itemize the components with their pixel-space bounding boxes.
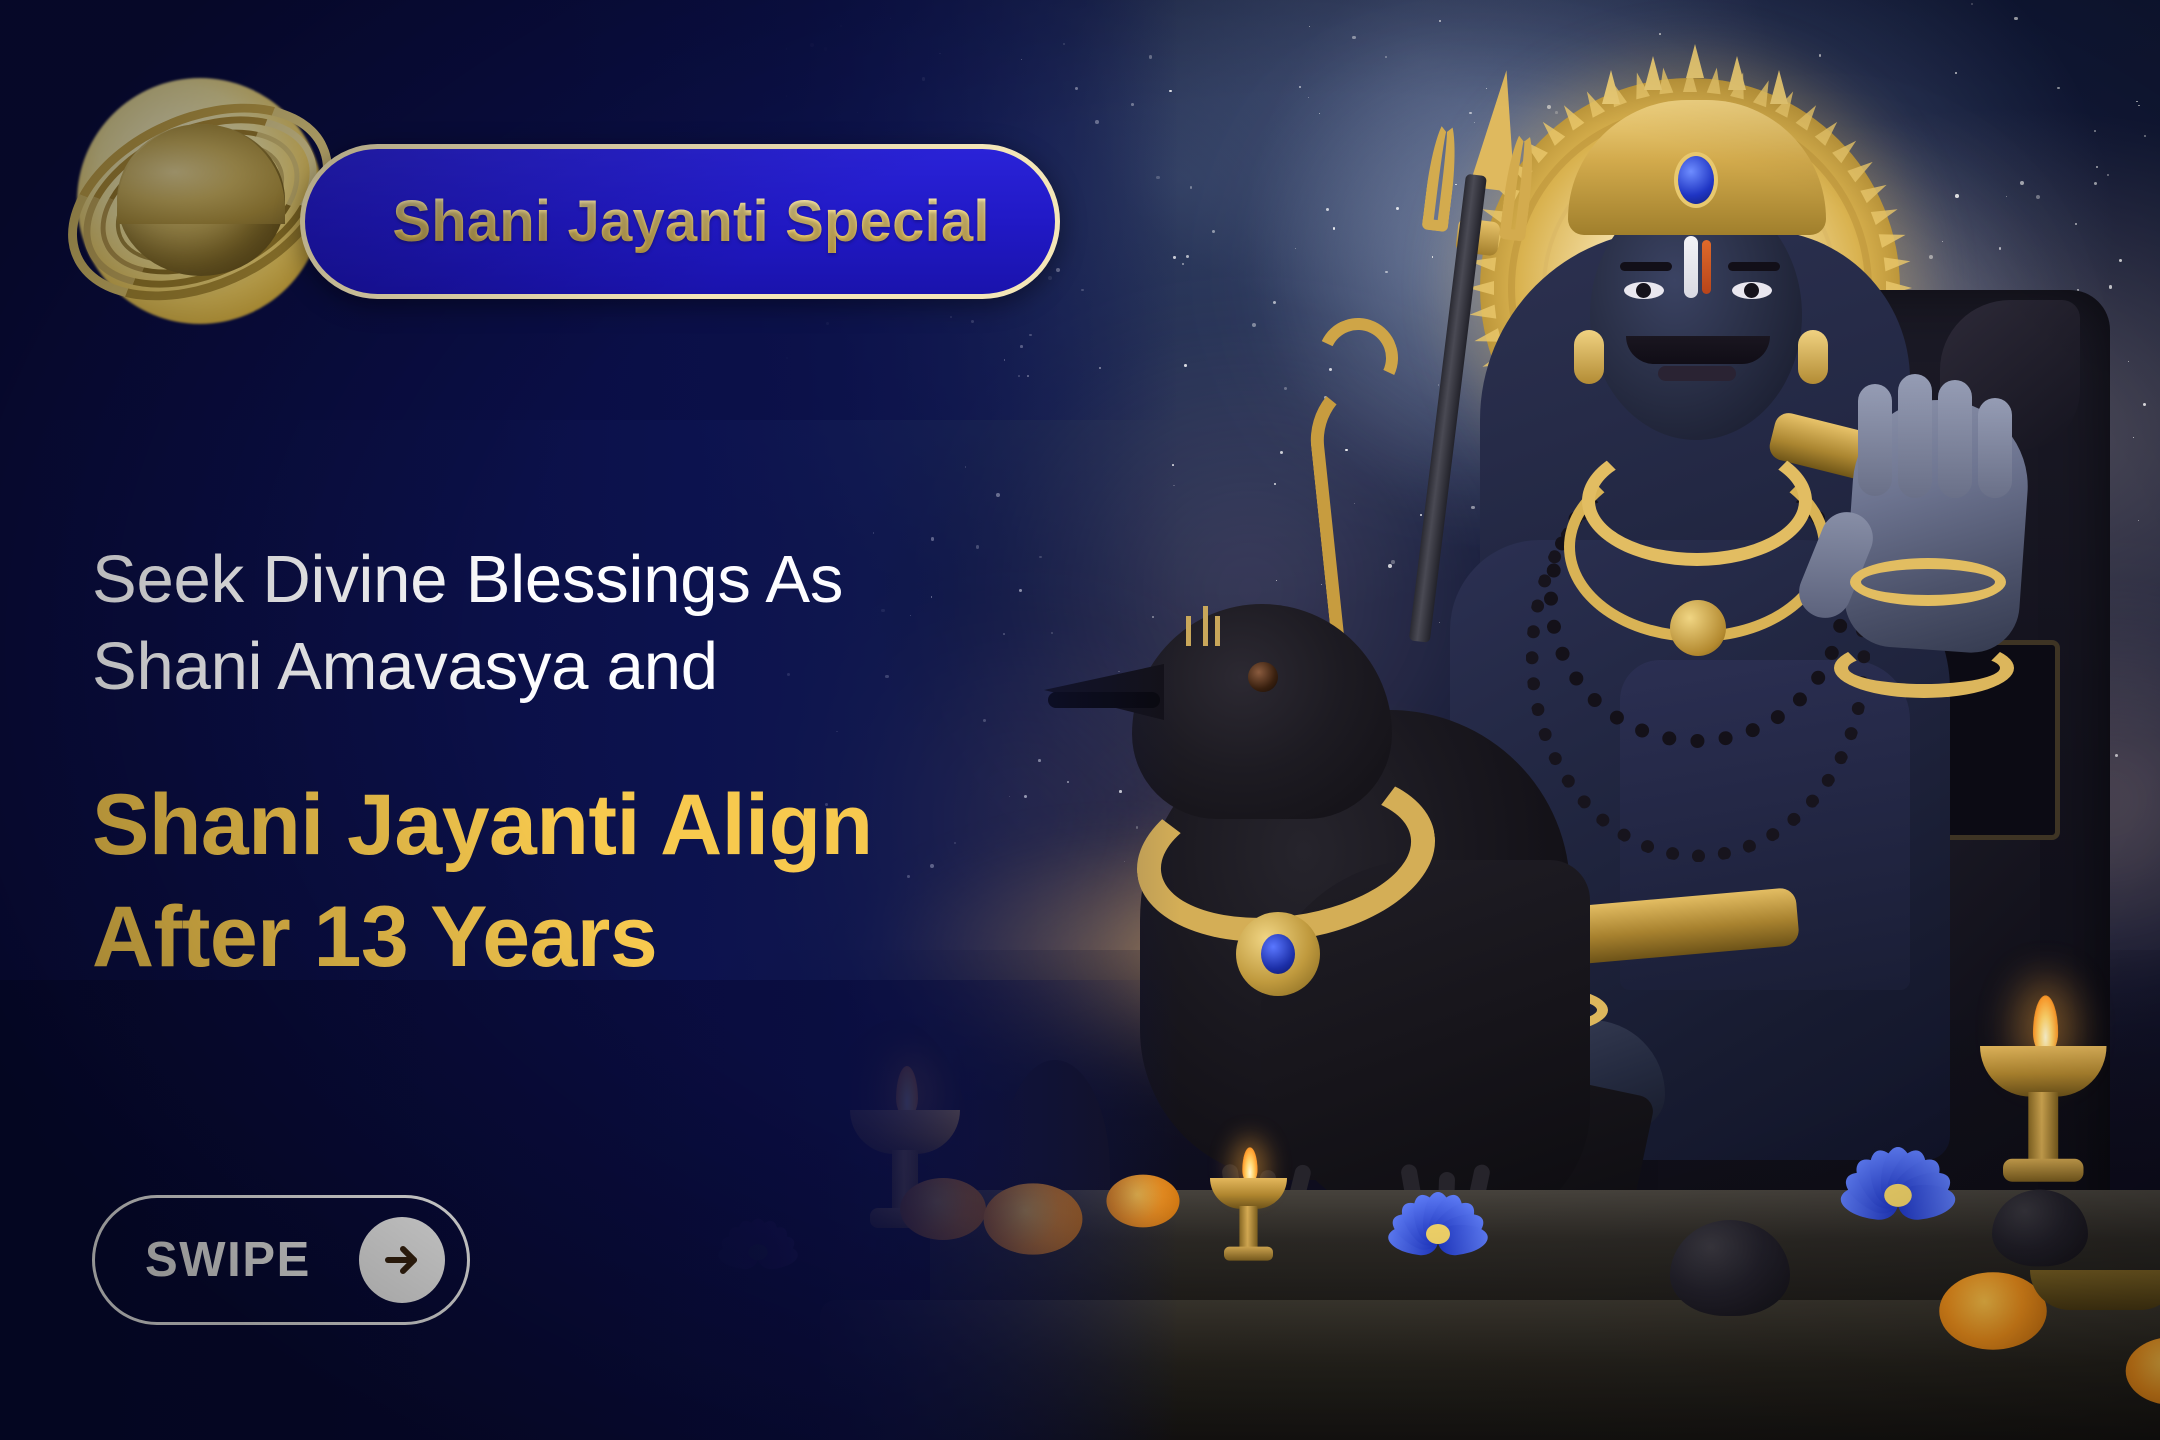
badge-label: Shani Jayanti Special xyxy=(370,188,989,255)
blue-lotus-flower xyxy=(1843,1145,1953,1226)
arm-bangle xyxy=(1850,558,2006,606)
crow-forehead-mark xyxy=(1186,616,1220,646)
crown-sapphire xyxy=(1674,152,1718,208)
tilak-mark xyxy=(1684,236,1698,298)
swipe-label: SWIPE xyxy=(145,1232,311,1288)
shani-jayanti-special-badge[interactable]: Shani Jayanti Special xyxy=(300,144,1060,299)
eye xyxy=(1624,282,1664,299)
lips xyxy=(1658,366,1736,381)
tilak-mark xyxy=(1702,240,1711,294)
headline-main: Shani Jayanti Align After 13 Years xyxy=(92,770,1122,994)
finger xyxy=(1898,374,1932,498)
eyebrow xyxy=(1620,262,1672,271)
headline-subtitle: Seek Divine Blessings As Shani Amavasya … xyxy=(92,536,1092,710)
lord-shani-figure xyxy=(1150,0,2160,1440)
gold-necklace xyxy=(1582,436,1812,566)
eyebrow xyxy=(1728,262,1780,271)
finger xyxy=(1938,380,1972,498)
necklace-pendant xyxy=(1670,600,1726,656)
earring xyxy=(1798,330,1828,384)
swipe-button[interactable]: SWIPE xyxy=(92,1195,470,1325)
arrow-right-icon[interactable] xyxy=(359,1217,445,1303)
finger xyxy=(1858,384,1892,496)
trident-icon xyxy=(1411,61,1553,264)
headline-white-line-2: Shani Amavasya and xyxy=(92,623,1092,710)
headline-gold-line-2: After 13 Years xyxy=(92,882,1122,994)
saturn-planet-icon xyxy=(55,72,345,327)
marigold-flower xyxy=(1939,1272,2047,1350)
headline-white-line-1: Seek Divine Blessings As xyxy=(92,536,1092,623)
headline-gold-line-1: Shani Jayanti Align xyxy=(92,770,1122,882)
finger xyxy=(1978,398,2012,498)
wrist-bangle xyxy=(1834,638,2014,698)
earring xyxy=(1574,330,1604,384)
blue-lotus-flower xyxy=(1390,1190,1486,1260)
promo-card: Shani Jayanti Special Seek Divine Blessi… xyxy=(0,0,2160,1440)
mustache xyxy=(1626,336,1770,364)
offering-plate xyxy=(2030,1270,2160,1310)
crow-eye xyxy=(1248,662,1278,692)
eye xyxy=(1732,282,1772,299)
crow-collar-jewel xyxy=(1236,912,1320,996)
